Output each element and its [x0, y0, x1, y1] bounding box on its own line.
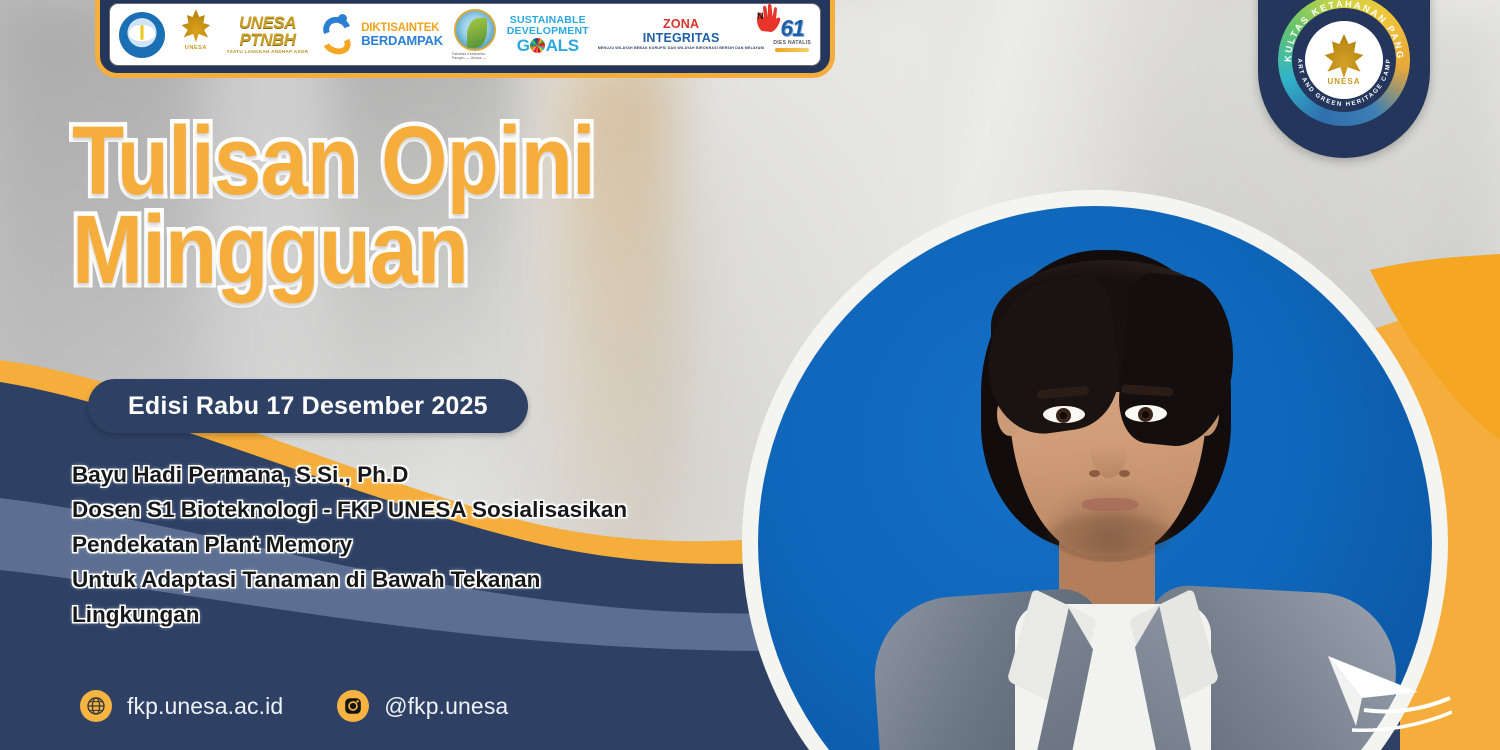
ptnbh-tagline: #SATU LANGKAH ANDHAP ASOR: [227, 50, 309, 55]
globe-icon: [80, 690, 112, 722]
footer-website[interactable]: fkp.unesa.ac.id: [80, 690, 283, 722]
nostril-right: [1119, 470, 1130, 477]
fkp-caption: Fakultas Ketahanan Pangan — Unesa —: [452, 52, 498, 60]
sdg-color-wheel-icon: [530, 38, 545, 53]
logo-strip: UNESA UNESA PTNBH #SATU LANGKAH ANDHAP A…: [109, 3, 821, 66]
chin-shadow: [1049, 514, 1171, 556]
fkp-round-icon: Fakultas Ketahanan Pangan — Unesa —: [452, 9, 498, 61]
nostril-left: [1089, 470, 1100, 477]
zona-integritas-logo: ZONA INTEGRITAS MENUJU WILAYAH BEBAS KOR…: [598, 7, 765, 62]
description-block: Bayu Hadi Permana, S.Si., Ph.D Dosen S1 …: [72, 458, 752, 632]
instagram-icon: [337, 690, 369, 722]
badge-arc-text: FAKULTAS KETAHANAN PANGAN SMART AND GREE…: [1278, 0, 1410, 126]
tut-wuri-handayani-logo: [119, 7, 165, 62]
edition-date-badge: Edisi Rabu 17 Desember 2025: [88, 379, 528, 433]
diktisaintek-line2: BERDAMPAK: [361, 34, 443, 48]
ptnbh-line1: UNESA: [239, 14, 296, 31]
title-line-2: Mingguan: [72, 205, 635, 294]
badge-arc-top-text: FAKULTAS KETAHANAN PANGAN: [1278, 0, 1405, 62]
sdg-line2: DEVELOPMENT: [507, 26, 589, 37]
page-title: Tulisan Opini Mingguan: [72, 116, 635, 294]
fakultas-ketahanan-pangan-logo: Fakultas Ketahanan Pangan — Unesa —: [452, 7, 498, 62]
diktisaintek-text: DIKTISAINTEK BERDAMPAK: [361, 22, 443, 48]
svg-text:N: N: [757, 11, 764, 21]
website-label: fkp.unesa.ac.id: [127, 693, 283, 720]
sustainable-development-goals-logo: SUSTAINABLE DEVELOPMENT G ALS: [507, 7, 589, 62]
description-line: Dosen S1 Bioteknologi - FKP UNESA Sosial…: [72, 493, 752, 528]
zona-subtext: MENUJU WILAYAH BEBAS KORUPSI DAN WILAYAH…: [598, 47, 765, 51]
dies-natalis-label: DIES NATALIS: [773, 41, 811, 46]
zona-line1: ZONA: [663, 18, 699, 31]
eye-left: [1043, 406, 1085, 423]
footer-contacts: fkp.unesa.ac.id @fkp.unesa: [80, 690, 508, 722]
eye-right: [1125, 405, 1167, 422]
unesa-logo: UNESA: [174, 7, 218, 62]
diktisaintek-swoosh-icon: [317, 13, 357, 57]
paper-plane-icon: [1322, 640, 1452, 736]
portrait-person-illustration: [943, 242, 1373, 750]
instagram-label: @fkp.unesa: [384, 693, 508, 720]
anti-corruption-hand-icon: N: [753, 3, 785, 33]
flame-shape: [179, 10, 213, 44]
leaf-icon: [467, 18, 487, 48]
kemendikbud-icon: [119, 12, 165, 58]
sdg-line3-row: G ALS: [517, 37, 579, 54]
poster-canvas: UNESA UNESA PTNBH #SATU LANGKAH ANDHAP A…: [0, 0, 1500, 750]
ptnbh-line2: PTNBH: [240, 31, 296, 48]
unesa-logo-label: UNESA: [185, 45, 207, 51]
swoosh-head: [338, 14, 347, 23]
diktisaintek-berdampak-logo: DIKTISAINTEK BERDAMPAK: [317, 7, 443, 62]
description-line: Pendekatan Plant Memory: [72, 528, 752, 563]
zona-line2: INTEGRITAS: [643, 32, 720, 45]
fkp-circle: [454, 9, 496, 51]
unesa-ptnbh-logo: UNESA PTNBH #SATU LANGKAH ANDHAP ASOR: [227, 7, 309, 62]
title-line-1: Tulisan Opini: [72, 116, 635, 205]
dies-natalis-bar: [775, 48, 809, 52]
description-line: Lingkungan: [72, 598, 752, 633]
iris-left: [1056, 408, 1071, 423]
diktisaintek-line1: DIKTISAINTEK: [361, 22, 443, 34]
description-line: Bayu Hadi Permana, S.Si., Ph.D: [72, 458, 752, 493]
sdg-g: G: [517, 37, 530, 54]
mouth: [1082, 498, 1138, 511]
footer-instagram[interactable]: @fkp.unesa: [337, 690, 508, 722]
description-line: Untuk Adaptasi Tanaman di Bawah Tekanan: [72, 563, 752, 598]
partner-logo-banner: UNESA UNESA PTNBH #SATU LANGKAH ANDHAP A…: [95, 0, 835, 78]
unesa-flame-icon: UNESA: [174, 10, 218, 60]
iris-right: [1138, 407, 1153, 422]
sdg-als: ALS: [546, 37, 579, 54]
edition-date-label: Edisi Rabu 17 Desember 2025: [128, 392, 488, 421]
